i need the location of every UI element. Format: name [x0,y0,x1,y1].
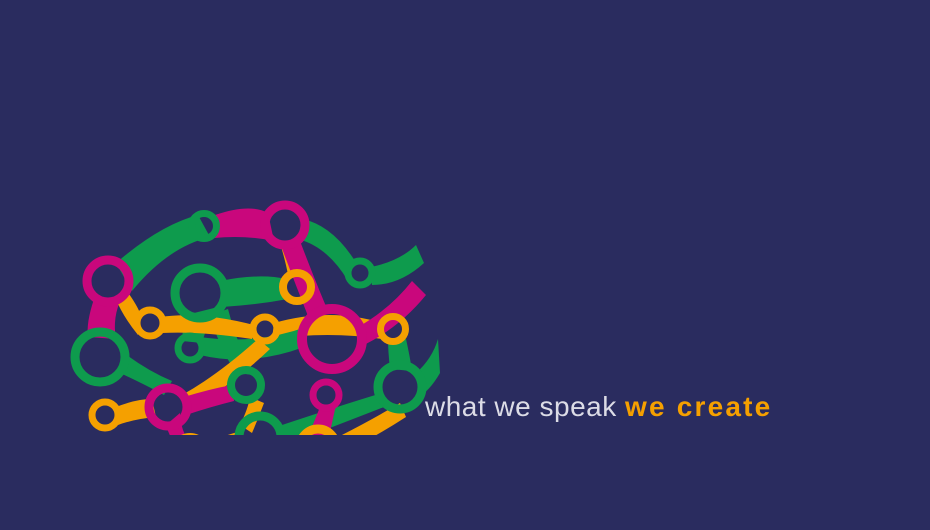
node-magenta-n3 [87,260,129,302]
node-magenta-n2 [265,205,305,245]
node-green-n13 [231,370,261,400]
node-orange-n15 [92,402,118,428]
tagline-light-text: what we speak [425,391,617,422]
node-magenta-n17 [313,382,339,408]
node-green-n9 [75,332,125,382]
node-green-n4 [175,268,225,318]
tagline: what we speak we create [425,390,772,424]
brain-network-logo: .g { fill: #0e9b4d; } .m { fill: #c9077c… [60,95,440,435]
tagline-space [617,391,625,422]
logo-screen: .g { fill: #0e9b4d; } .m { fill: #c9077c… [0,0,930,530]
link-green-3 [371,245,424,285]
link-magenta-4 [358,281,426,345]
node-green-n14 [378,365,422,409]
node-orange-n7 [137,310,163,336]
node-green-n5 [348,261,372,285]
brain-logo-svg: .g { fill: #0e9b4d; } .m { fill: #c9077c… [60,95,440,435]
node-green-n19 [239,416,281,435]
tagline-accent-text: we create [625,391,772,422]
link-green-4 [220,276,288,307]
node-magenta-n16 [149,388,187,426]
